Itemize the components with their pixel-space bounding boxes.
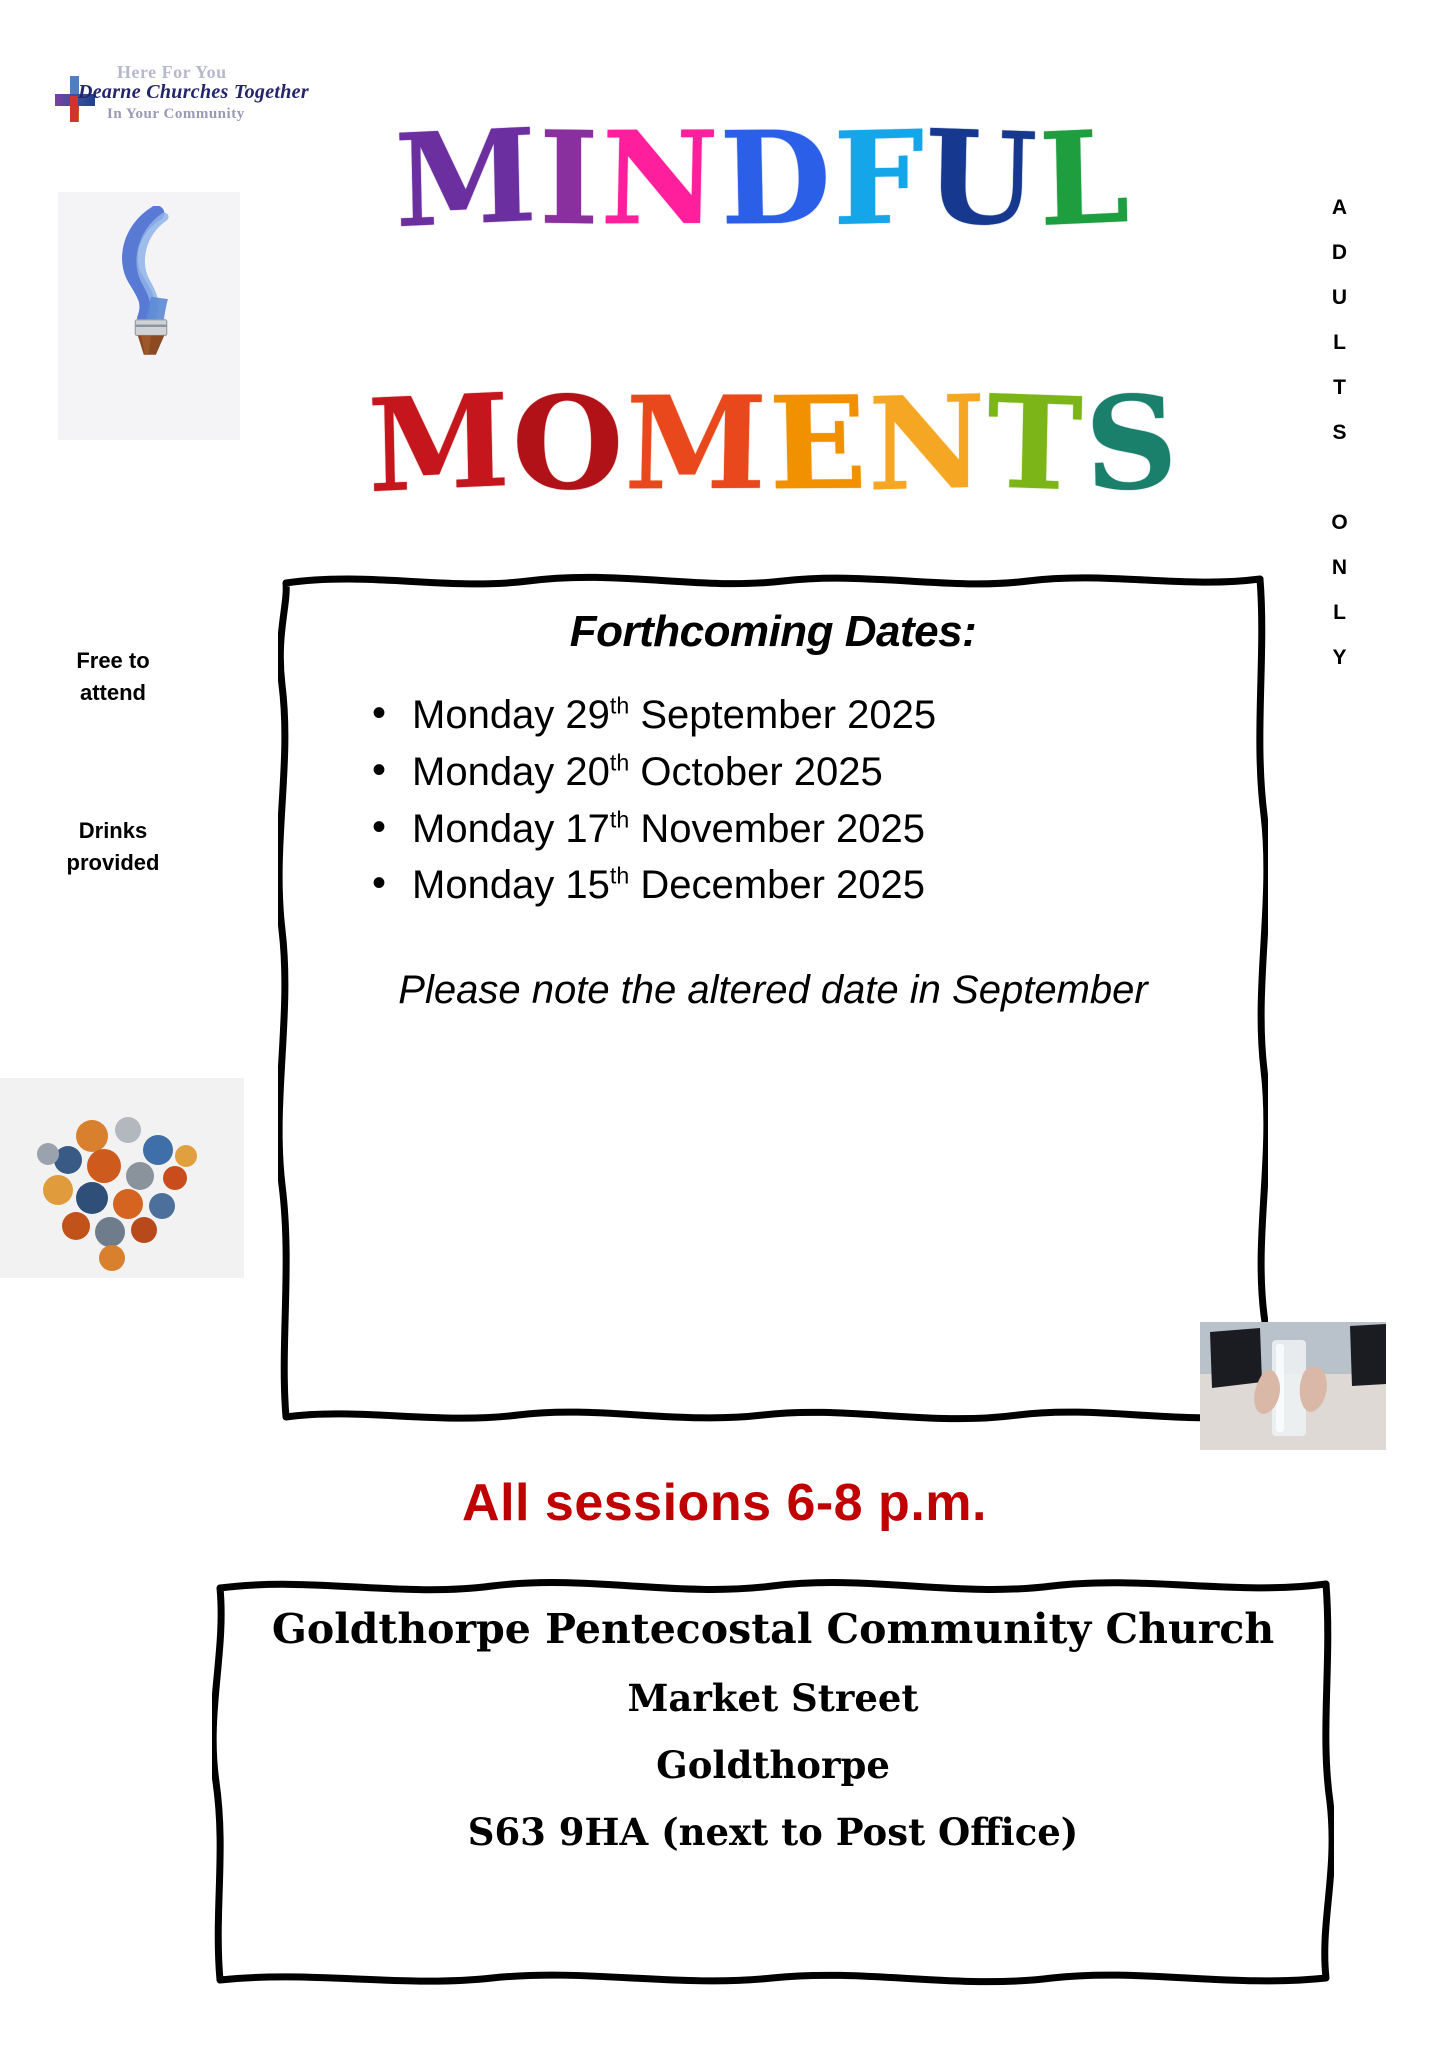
title-letter: E (768, 380, 870, 509)
date-list-item: Monday 17th November 2025 (372, 801, 1230, 858)
vertical-banner-letter: N (1320, 545, 1360, 590)
vertical-banner-letter: L (1320, 320, 1360, 365)
vertical-banner-letter: O (1320, 500, 1360, 545)
address-line-postcode: S63 9HA (next to Post Office) (240, 1810, 1306, 1855)
title-letter: F (833, 114, 926, 244)
title-letter: M (394, 112, 540, 246)
dates-list: Monday 29th September 2025Monday 20th Oc… (316, 687, 1230, 914)
date-list-item: Monday 29th September 2025 (372, 687, 1230, 744)
note-drinks-provided: Drinks provided (28, 815, 198, 879)
dates-heading: Forthcoming Dates: (316, 607, 1230, 657)
logo-tagline-bottom: In Your Community (107, 106, 245, 123)
title-letter: U (924, 113, 1040, 245)
address-line-town: Goldthorpe (240, 1743, 1306, 1788)
vertical-banner-letter: L (1320, 590, 1360, 635)
title-letter: L (1038, 113, 1133, 245)
title-letter: N (868, 379, 987, 510)
vertical-banner-letter: Y (1320, 635, 1360, 680)
buttons-heart-illustration (0, 1078, 244, 1278)
note-free-line1: Free to (28, 645, 198, 677)
forthcoming-dates-box: Forthcoming Dates: Monday 29th September… (278, 565, 1268, 1429)
note-drinks-line2: provided (28, 847, 198, 879)
vertical-banner-letter: S (1320, 410, 1360, 455)
adults-only-vertical-banner: ADULTSONLY (1320, 185, 1360, 680)
vertical-banner-letter: A (1320, 185, 1360, 230)
sessions-time: All sessions 6-8 p.m. (0, 1473, 1449, 1533)
buttons-heart-image (0, 1078, 244, 1278)
poster-root: Here For You Dearne Churches Together In… (0, 0, 1449, 2048)
paintbrush-image (58, 192, 240, 440)
dearne-churches-logo: Here For You Dearne Churches Together In… (55, 62, 315, 130)
title-letter: S (1083, 378, 1180, 510)
vertical-banner-gap (1320, 455, 1360, 500)
title-letter: M (367, 377, 513, 511)
title-mindful: MINDFUL (395, 115, 1131, 243)
dates-note: Please note the altered date in Septembe… (316, 962, 1230, 1018)
title-letter: O (512, 379, 626, 509)
title-moments: MOMENTS (368, 380, 1179, 508)
vertical-banner-letter: U (1320, 275, 1360, 320)
address-content: Goldthorpe Pentecostal Community Church … (240, 1604, 1306, 1855)
logo-org-name: Dearne Churches Together (78, 81, 309, 104)
dates-content: Forthcoming Dates: Monday 29th September… (300, 591, 1246, 1403)
title-letter: M (624, 380, 770, 509)
date-list-item: Monday 20th October 2025 (372, 744, 1230, 801)
title-letter: I (539, 115, 601, 244)
vertical-banner-letter: T (1320, 365, 1360, 410)
vertical-banner-letter: D (1320, 230, 1360, 275)
address-line-church: Goldthorpe Pentecostal Community Church (240, 1604, 1306, 1654)
note-drinks-line1: Drinks (28, 815, 198, 847)
note-free-to-attend: Free to attend (28, 645, 198, 709)
address-line-street: Market Street (240, 1676, 1306, 1721)
title-letter: T (986, 378, 1086, 509)
date-list-item: Monday 15th December 2025 (372, 857, 1230, 914)
logo-tagline-top: Here For You (117, 62, 227, 83)
address-box: Goldthorpe Pentecostal Community Church … (212, 1572, 1334, 1990)
candle-glass-image (1200, 1322, 1386, 1450)
title-letter: N (599, 115, 721, 243)
hands-glass-illustration (1200, 1322, 1386, 1450)
paintbrush-illustration (88, 206, 208, 356)
note-free-line2: attend (28, 677, 198, 709)
title-letter: D (718, 115, 834, 244)
